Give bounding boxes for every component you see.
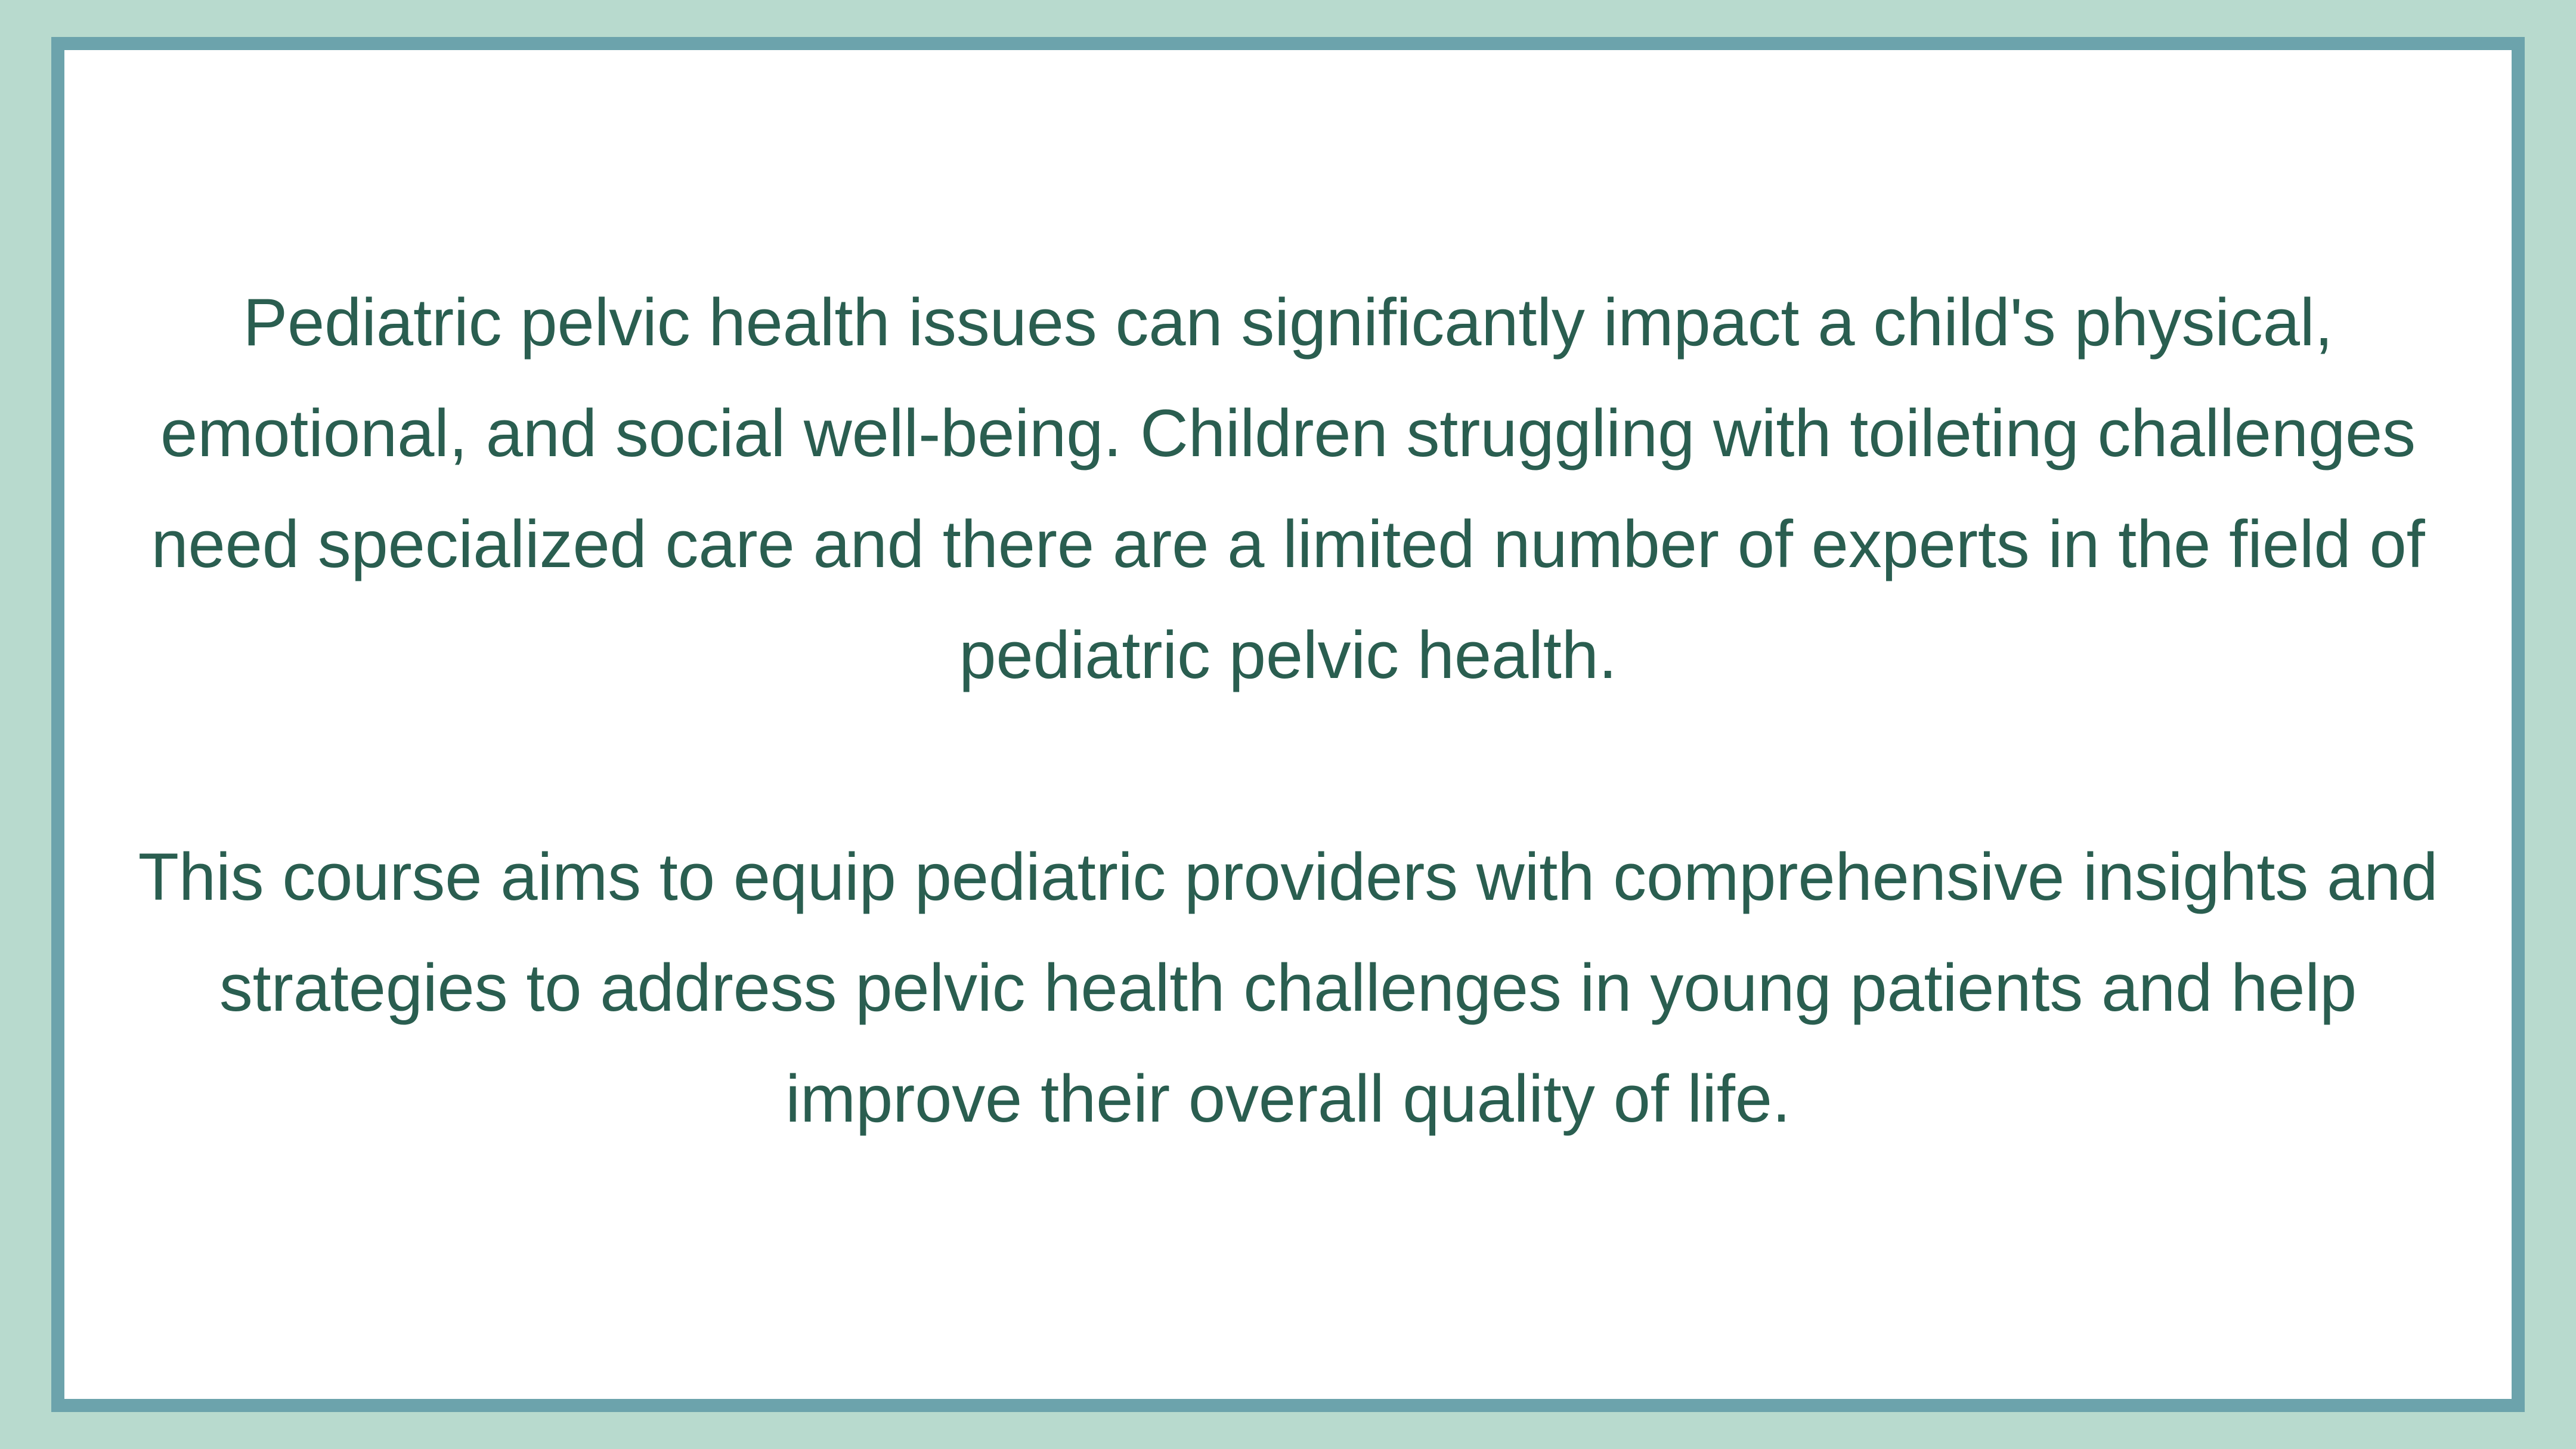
- course-description-block: Pediatric pelvic health issues can signi…: [125, 267, 2451, 1154]
- content-card: Pediatric pelvic health issues can signi…: [51, 37, 2525, 1412]
- description-paragraph-course-aim: This course aims to equip pediatric prov…: [125, 822, 2451, 1154]
- slide-canvas: Pediatric pelvic health issues can signi…: [0, 0, 2576, 1449]
- description-paragraph-problem: Pediatric pelvic health issues can signi…: [125, 267, 2451, 711]
- paragraph-spacer: [125, 711, 2451, 822]
